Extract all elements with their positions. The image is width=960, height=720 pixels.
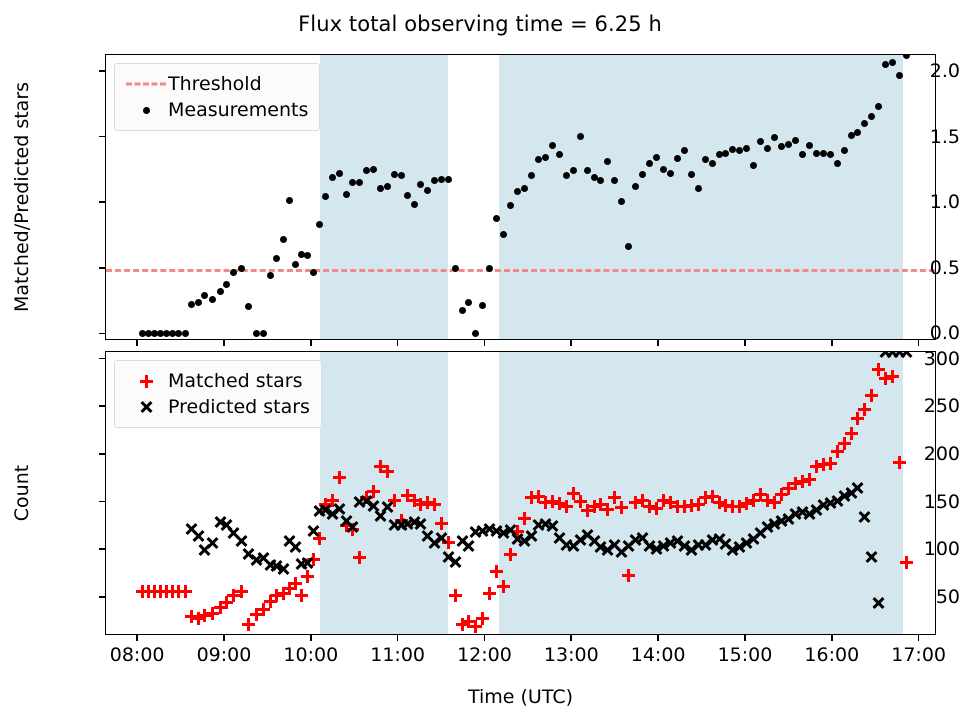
matched-star-point <box>615 501 628 514</box>
measurement-point <box>556 151 563 158</box>
measurement-point <box>253 330 260 337</box>
measurement-point <box>230 269 237 276</box>
measurement-point <box>384 183 391 190</box>
predicted-star-point <box>301 556 314 569</box>
top-panel-y-tick-label: 0.0 <box>865 322 960 344</box>
measurement-point <box>304 252 311 259</box>
shaded-observing-band <box>499 55 903 339</box>
measurement-point <box>465 299 472 306</box>
dot-icon <box>143 107 150 114</box>
bottom-panel-y-axis-label: Count <box>11 465 33 521</box>
bottom-panel-y-tick-mark <box>99 358 105 360</box>
matched-star-point <box>824 457 837 470</box>
measurement-point <box>743 145 750 152</box>
matched-star-point <box>803 473 816 486</box>
measurement-point <box>591 174 598 181</box>
bottom-panel-y-tick-mark <box>99 501 105 503</box>
x-axis-tick-label: 12:00 <box>457 644 512 666</box>
top-panel-y-tick-label: 1.5 <box>865 126 960 148</box>
measurement-point <box>286 197 293 204</box>
matched-star-point <box>601 503 614 516</box>
x-axis-tick-mark <box>484 340 486 346</box>
measurement-point <box>316 221 323 228</box>
x-axis-tick-mark <box>397 340 399 346</box>
x-axis-tick-mark <box>397 635 399 641</box>
x-axis-tick-mark <box>657 340 659 346</box>
plus-marker-icon <box>124 371 168 391</box>
matched-star-point <box>289 577 302 590</box>
matched-star-point <box>435 517 448 530</box>
predicted-star-point <box>851 482 864 495</box>
measurement-point <box>827 151 834 158</box>
bottom-panel-y-tick-mark <box>99 453 105 455</box>
bottom-panel-y-tick-mark <box>99 596 105 598</box>
predicted-star-point <box>277 563 290 576</box>
bottom-panel-y-tick-label: 250 <box>865 395 960 417</box>
x-axis-tick-mark <box>570 340 572 346</box>
top-panel-y-axis-label: Matched/Predicted stars <box>11 82 33 312</box>
x-axis-tick-label: 13:00 <box>544 644 599 666</box>
x-axis-tick-mark <box>831 340 833 346</box>
top-panel-legend-item: Measurements <box>124 97 308 123</box>
measurement-point <box>398 172 405 179</box>
measurement-point <box>370 166 377 173</box>
predicted-star-point <box>381 501 394 514</box>
measurement-point <box>632 183 639 190</box>
x-axis-tick-label: 14:00 <box>631 644 686 666</box>
measurement-point <box>820 150 827 157</box>
predicted-star-point <box>307 525 320 538</box>
matched-star-point <box>886 370 899 383</box>
x-axis-tick-mark <box>570 635 572 641</box>
measurement-point <box>280 236 287 243</box>
bottom-panel-y-tick-label: 300 <box>865 348 960 370</box>
x-axis-tick-label: 15:00 <box>718 644 773 666</box>
top-panel-y-tick-label: 0.5 <box>865 257 960 279</box>
bottom-panel-y-tick-label: 50 <box>865 586 960 608</box>
measurement-point <box>660 166 667 173</box>
measurement-point <box>549 142 556 149</box>
measurement-point <box>514 188 521 195</box>
matched-star-point <box>622 569 635 582</box>
dot-marker-icon <box>124 100 168 120</box>
top-panel-y-tick-label: 1.0 <box>865 191 960 213</box>
measurement-point <box>875 103 882 110</box>
measurement-point <box>292 261 299 268</box>
matched-star-point <box>483 587 496 600</box>
matched-star-point <box>518 512 531 525</box>
measurement-point <box>674 155 681 162</box>
measurement-point <box>834 160 841 167</box>
measurement-point <box>653 154 660 161</box>
measurement-point <box>310 269 317 276</box>
x-axis-tick-mark <box>831 635 833 641</box>
x-axis-tick-label: 08:00 <box>110 644 165 666</box>
measurement-point <box>195 299 202 306</box>
measurement-point <box>841 147 848 154</box>
plus-icon <box>140 375 153 388</box>
matched-star-point <box>428 498 441 511</box>
measurement-point <box>542 154 549 161</box>
x-axis-tick-label: 10:00 <box>283 644 338 666</box>
x-axis-tick-mark <box>310 340 312 346</box>
bottom-panel-y-tick-label: 150 <box>865 491 960 513</box>
predicted-star-point <box>206 536 219 549</box>
matched-star-point <box>504 548 517 561</box>
x-axis-tick-mark <box>744 340 746 346</box>
measurement-point <box>209 296 216 303</box>
measurement-point <box>201 292 208 299</box>
x-axis-tick-label: 09:00 <box>197 644 252 666</box>
matched-star-point <box>333 471 346 484</box>
measurement-point <box>848 132 855 139</box>
bottom-panel-legend-item: Predicted stars <box>124 394 310 420</box>
measurement-point <box>570 167 577 174</box>
matched-star-point <box>179 585 192 598</box>
bottom-panel-y-tick-label: 200 <box>865 443 960 465</box>
top-panel-legend-item-label: Measurements <box>168 99 308 121</box>
measurement-point <box>785 141 792 148</box>
matched-star-point <box>476 612 489 625</box>
matched-star-point <box>381 465 394 478</box>
x-axis-tick-mark <box>223 340 225 346</box>
measurement-point <box>452 265 459 272</box>
matched-star-point <box>301 570 314 583</box>
predicted-star-point <box>462 540 475 553</box>
bottom-panel-y-tick-mark <box>99 405 105 407</box>
x-axis-tick-label: 11:00 <box>370 644 425 666</box>
measurement-point <box>792 137 799 144</box>
top-panel-legend-item-label: Threshold <box>168 73 262 95</box>
measurement-point <box>336 170 343 177</box>
cross-icon <box>140 401 153 414</box>
matched-star-point <box>497 580 510 593</box>
threshold-line-swatch-icon <box>124 74 168 94</box>
matched-star-point <box>353 551 366 564</box>
top-panel-y-tick-mark <box>99 70 105 72</box>
matched-star-point <box>845 427 858 440</box>
x-axis-tick-mark <box>310 635 312 641</box>
predicted-star-point <box>449 555 462 568</box>
measurement-point <box>411 201 418 208</box>
x-axis-tick-mark <box>918 635 920 641</box>
measurement-point <box>459 307 466 314</box>
measurement-point <box>356 179 363 186</box>
measurement-point <box>217 288 224 295</box>
measurement-point <box>563 172 570 179</box>
measurement-point <box>445 176 452 183</box>
measurement-point <box>223 281 230 288</box>
top-panel-y-tick-mark <box>99 333 105 335</box>
measurement-point <box>709 160 716 167</box>
measurement-point <box>343 191 350 198</box>
bottom-panel-y-tick-label: 100 <box>865 538 960 560</box>
predicted-star-point <box>289 541 302 554</box>
measurement-point <box>245 303 252 310</box>
predicted-star-point <box>235 534 248 547</box>
dashed-line-icon <box>126 83 166 86</box>
x-axis-tick-mark <box>744 635 746 641</box>
predicted-star-point <box>435 531 448 544</box>
measurement-point <box>349 179 356 186</box>
predicted-star-point <box>192 529 205 542</box>
matched-star-point <box>560 500 573 513</box>
matched-star-point <box>235 585 248 598</box>
x-axis-label: Time (UTC) <box>105 686 936 708</box>
bottom-panel-legend: Matched starsPredicted stars <box>114 360 322 428</box>
measurement-point <box>688 171 695 178</box>
matched-star-point <box>490 565 503 578</box>
top-panel-y-tick-mark <box>99 136 105 138</box>
measurement-point <box>903 54 910 59</box>
measurement-point <box>472 330 479 337</box>
measurement-point <box>667 170 674 177</box>
measurement-point <box>260 330 267 337</box>
top-panel-y-tick-mark <box>99 267 105 269</box>
measurement-point <box>813 150 820 157</box>
bottom-panel-legend-item-label: Matched stars <box>168 370 302 392</box>
x-axis-tick-label: 16:00 <box>804 644 859 666</box>
predicted-star-point <box>346 521 359 534</box>
x-axis-tick-label: 17:00 <box>891 644 946 666</box>
top-panel-legend: ThresholdMeasurements <box>114 63 320 131</box>
x-axis-tick-mark <box>918 340 920 346</box>
cross-marker-icon <box>124 397 168 417</box>
measurement-point <box>404 192 411 199</box>
matched-star-point <box>449 589 462 602</box>
measurement-point <box>639 171 646 178</box>
x-axis-tick-mark <box>223 635 225 641</box>
figure-title: Flux total observing time = 6.25 h <box>0 12 960 36</box>
measurement-point <box>329 174 336 181</box>
measurement-point <box>438 176 445 183</box>
figure-root: Flux total observing time = 6.25 h 0.00.… <box>0 0 960 720</box>
shaded-observing-band <box>320 55 448 339</box>
measurement-point <box>273 255 280 262</box>
x-axis-tick-mark <box>136 635 138 641</box>
measurement-point <box>806 142 813 149</box>
measurement-point <box>577 133 584 140</box>
bottom-panel-legend-item-label: Predicted stars <box>168 396 310 418</box>
measurement-point <box>424 187 431 194</box>
x-axis-tick-mark <box>136 340 138 346</box>
measurement-point <box>479 302 486 309</box>
measurement-point <box>716 151 723 158</box>
measurement-point <box>584 167 591 174</box>
x-axis-tick-mark <box>657 635 659 641</box>
shaded-observing-band <box>320 352 448 634</box>
measurement-point <box>267 272 274 279</box>
measurement-point <box>182 330 189 337</box>
measurement-point <box>695 185 702 192</box>
bottom-panel-legend-item: Matched stars <box>124 368 310 394</box>
measurement-point <box>363 167 370 174</box>
matched-star-point <box>295 589 308 602</box>
measurement-point <box>750 162 757 169</box>
measurement-point <box>391 171 398 178</box>
top-panel-legend-item: Threshold <box>124 71 308 97</box>
measurement-point <box>764 145 771 152</box>
bottom-panel-y-tick-mark <box>99 548 105 550</box>
x-axis-tick-mark <box>484 635 486 641</box>
top-panel-y-tick-label: 2.0 <box>865 60 960 82</box>
top-panel-y-tick-mark <box>99 201 105 203</box>
